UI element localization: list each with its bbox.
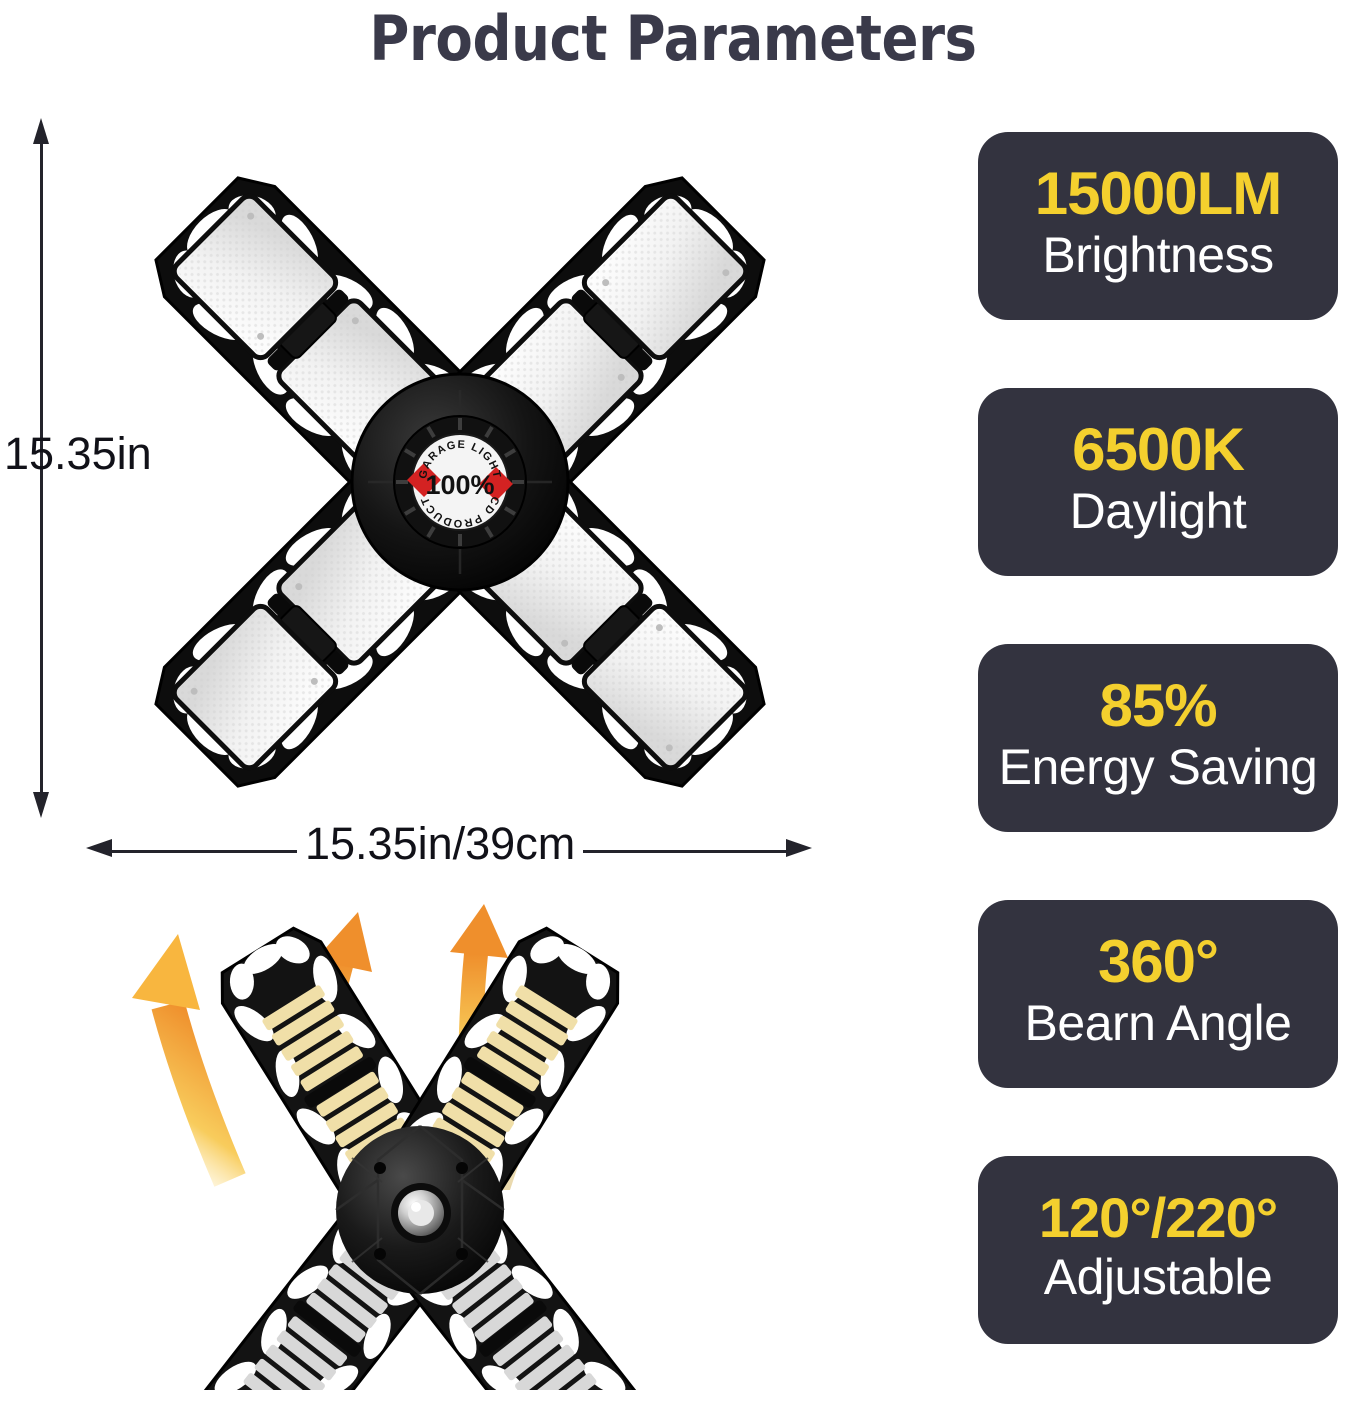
parameter-label-energy-saving: Energy Saving (999, 739, 1318, 795)
parameter-card-color-temperature: 6500K Daylight (978, 388, 1338, 576)
parameter-card-list: 15000LM Brightness 6500K Daylight 85% En… (978, 132, 1338, 1412)
parameter-card-energy-saving: 85% Energy Saving (978, 644, 1338, 832)
arrowhead-left-icon (86, 839, 112, 857)
parameter-label-beam-angle: Bearn Angle (1025, 995, 1292, 1051)
arrowhead-down-icon (33, 792, 49, 818)
parameter-value-beam-angle: 360° (1098, 931, 1218, 992)
parameter-value-energy-saving: 85% (1099, 675, 1216, 736)
dimension-label-height: 15.35in (4, 428, 152, 480)
parameter-value-color-temperature: 6500K (1072, 419, 1244, 480)
svg-text:100%: 100% (425, 470, 494, 500)
product-image-beam-view (80, 890, 760, 1390)
parameter-value-adjustable-angle: 120°/220° (1039, 1189, 1277, 1246)
hub-beam-view (336, 1126, 504, 1294)
arrowhead-right-icon (786, 839, 812, 857)
hub-top-view: GARAGE LIGHT CD PRODUCT 100% (352, 374, 568, 590)
parameter-value-brightness: 15000LM (1035, 163, 1281, 224)
parameter-card-adjustable-angle: 120°/220° Adjustable (978, 1156, 1338, 1344)
product-image-top-view: GARAGE LIGHT CD PRODUCT 100% (60, 110, 860, 830)
parameter-label-brightness: Brightness (1042, 227, 1273, 283)
parameter-label-adjustable-angle: Adjustable (1044, 1249, 1273, 1305)
parameter-card-beam-angle: 360° Bearn Angle (978, 900, 1338, 1088)
dimension-label-width: 15.35in/39cm (297, 818, 583, 870)
page-title: Product Parameters (81, 2, 1265, 75)
parameter-card-brightness: 15000LM Brightness (978, 132, 1338, 320)
parameter-label-color-temperature: Daylight (1070, 483, 1247, 539)
